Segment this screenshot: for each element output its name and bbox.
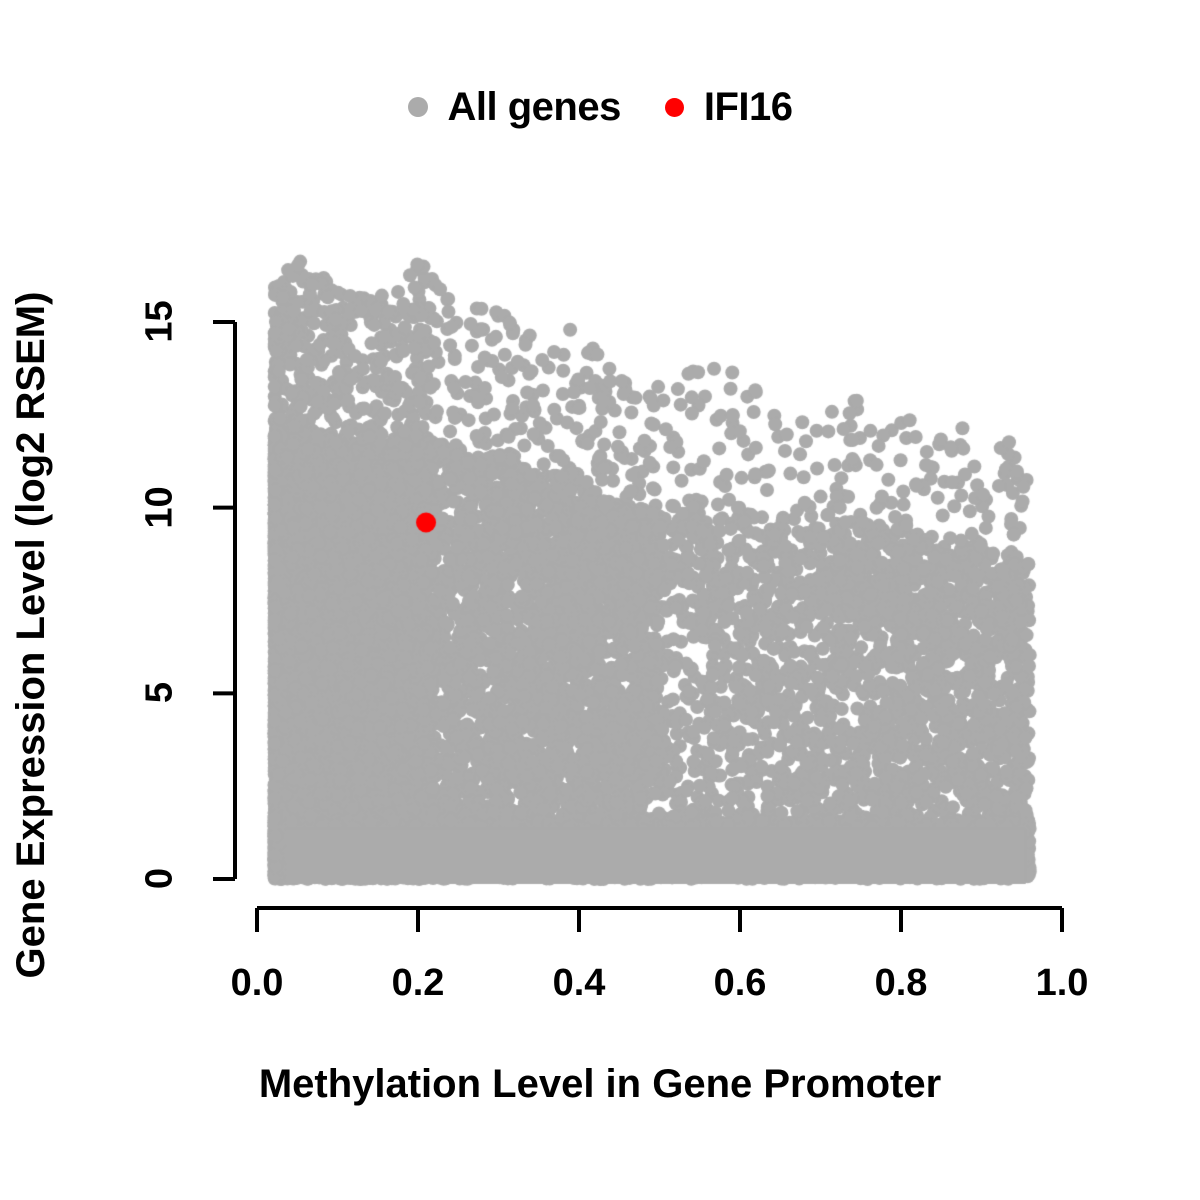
x-tick-label: 1.0	[992, 962, 1132, 1005]
axis-lines	[0, 0, 1200, 1200]
scatter-plot-figure: All genes IFI16 Gene Expression Level (l…	[0, 0, 1200, 1200]
plot-panel	[0, 0, 1200, 1200]
x-tick-label: 0.8	[831, 962, 971, 1005]
x-tick-label: 0.6	[670, 962, 810, 1005]
x-tick-label: 0.0	[187, 962, 327, 1005]
y-tick-label: 10	[139, 467, 182, 547]
x-tick-label: 0.2	[348, 962, 488, 1005]
y-tick-label: 5	[139, 653, 182, 733]
y-tick-label: 0	[139, 839, 182, 919]
x-tick-label: 0.4	[509, 962, 649, 1005]
y-tick-label: 15	[139, 282, 182, 362]
